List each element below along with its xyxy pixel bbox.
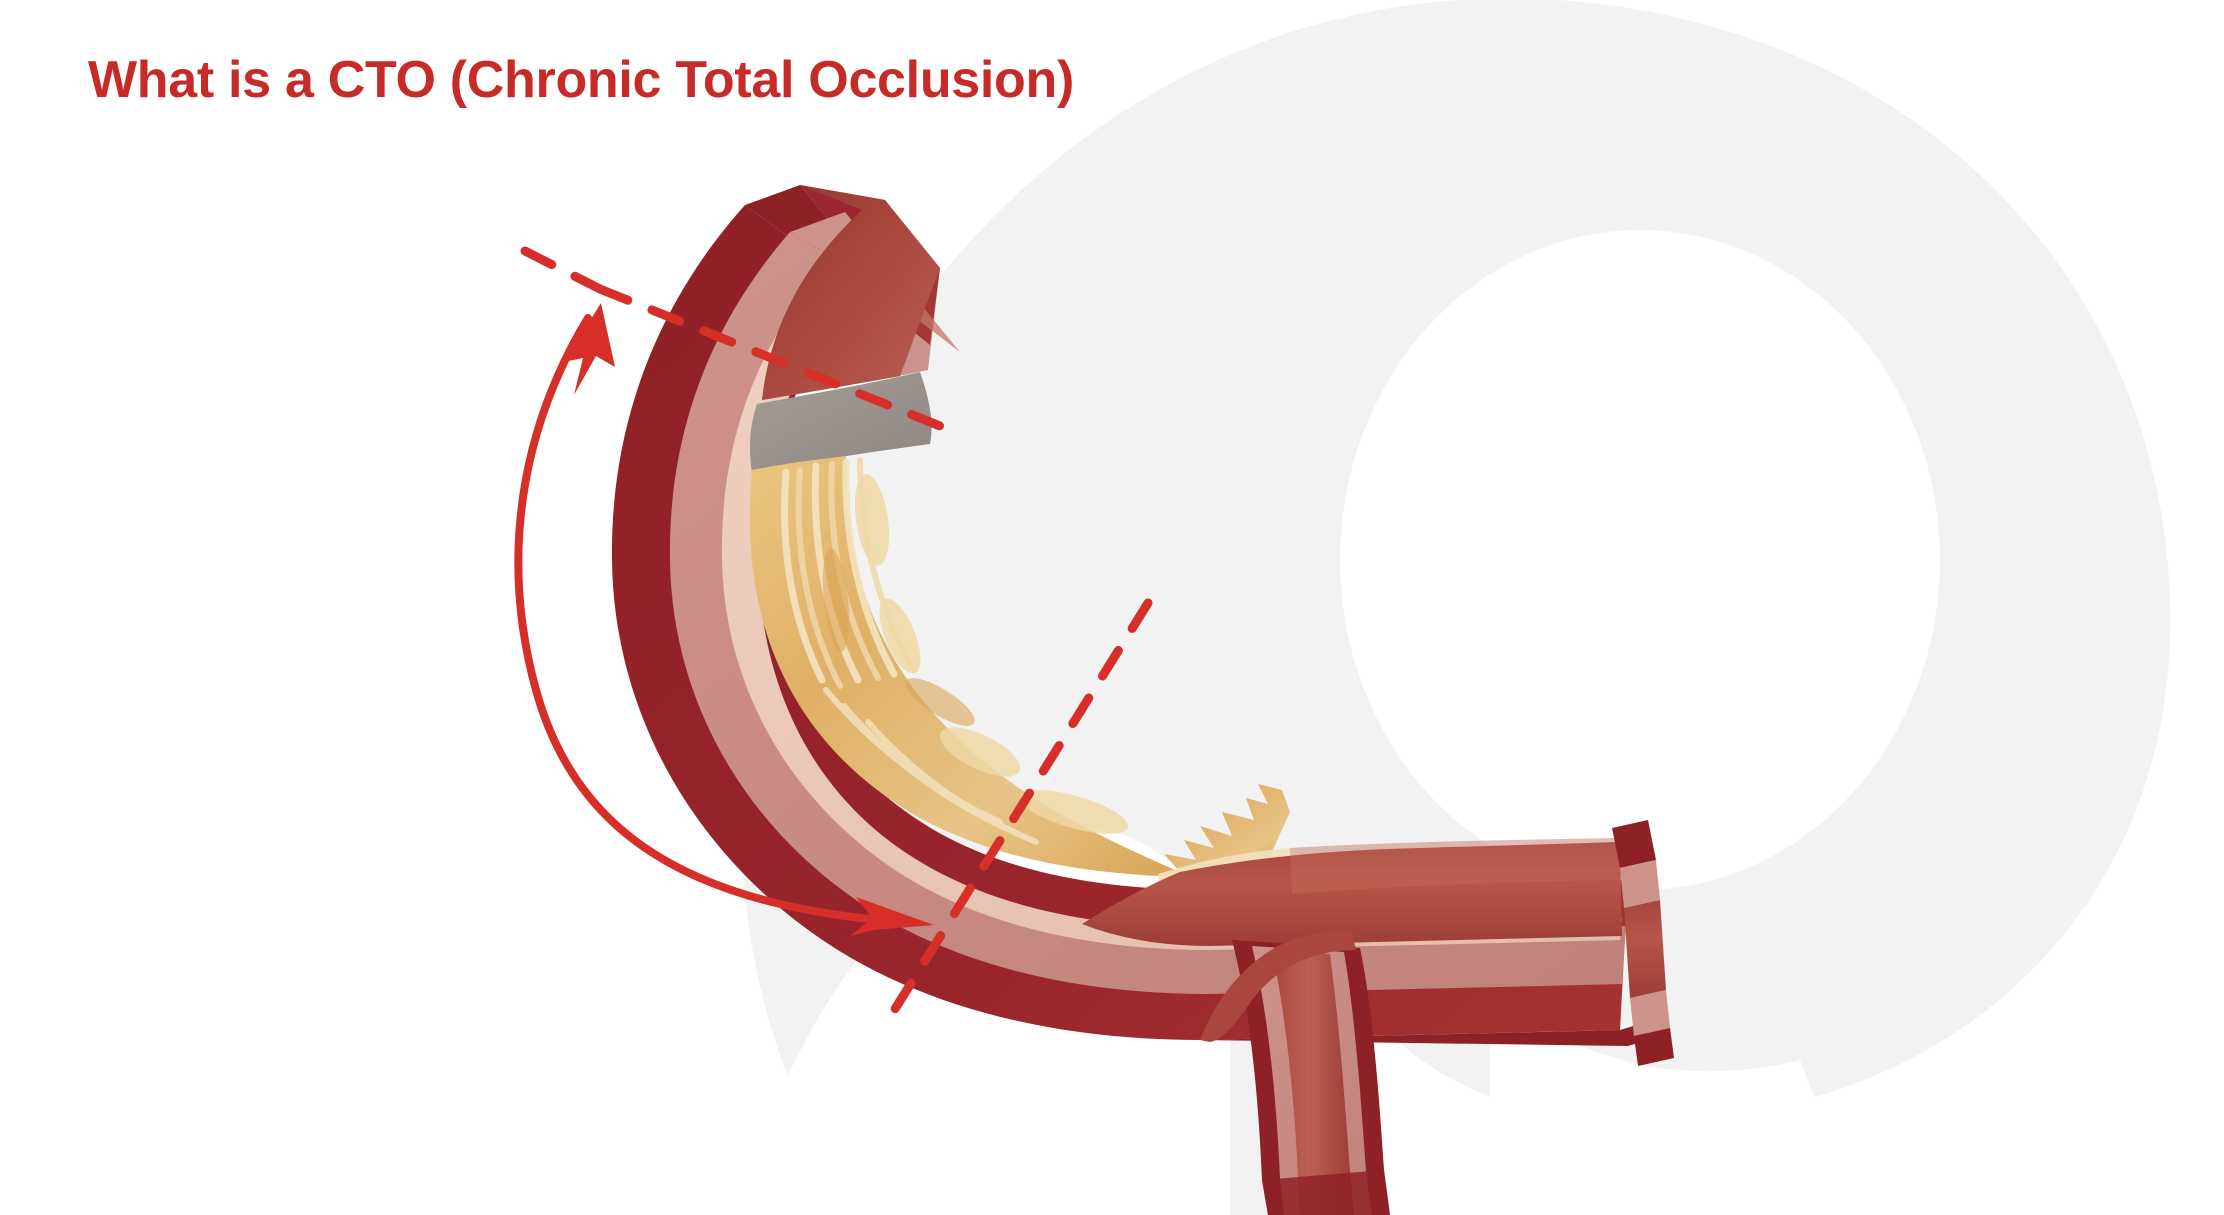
distal-open-lumen <box>1082 838 1622 946</box>
illustration-page: What is a CTO (Chronic Total Occlusion) <box>0 0 2224 1215</box>
artery-cto-illustration <box>0 0 2224 1215</box>
page-title: What is a CTO (Chronic Total Occlusion) <box>88 50 1074 110</box>
